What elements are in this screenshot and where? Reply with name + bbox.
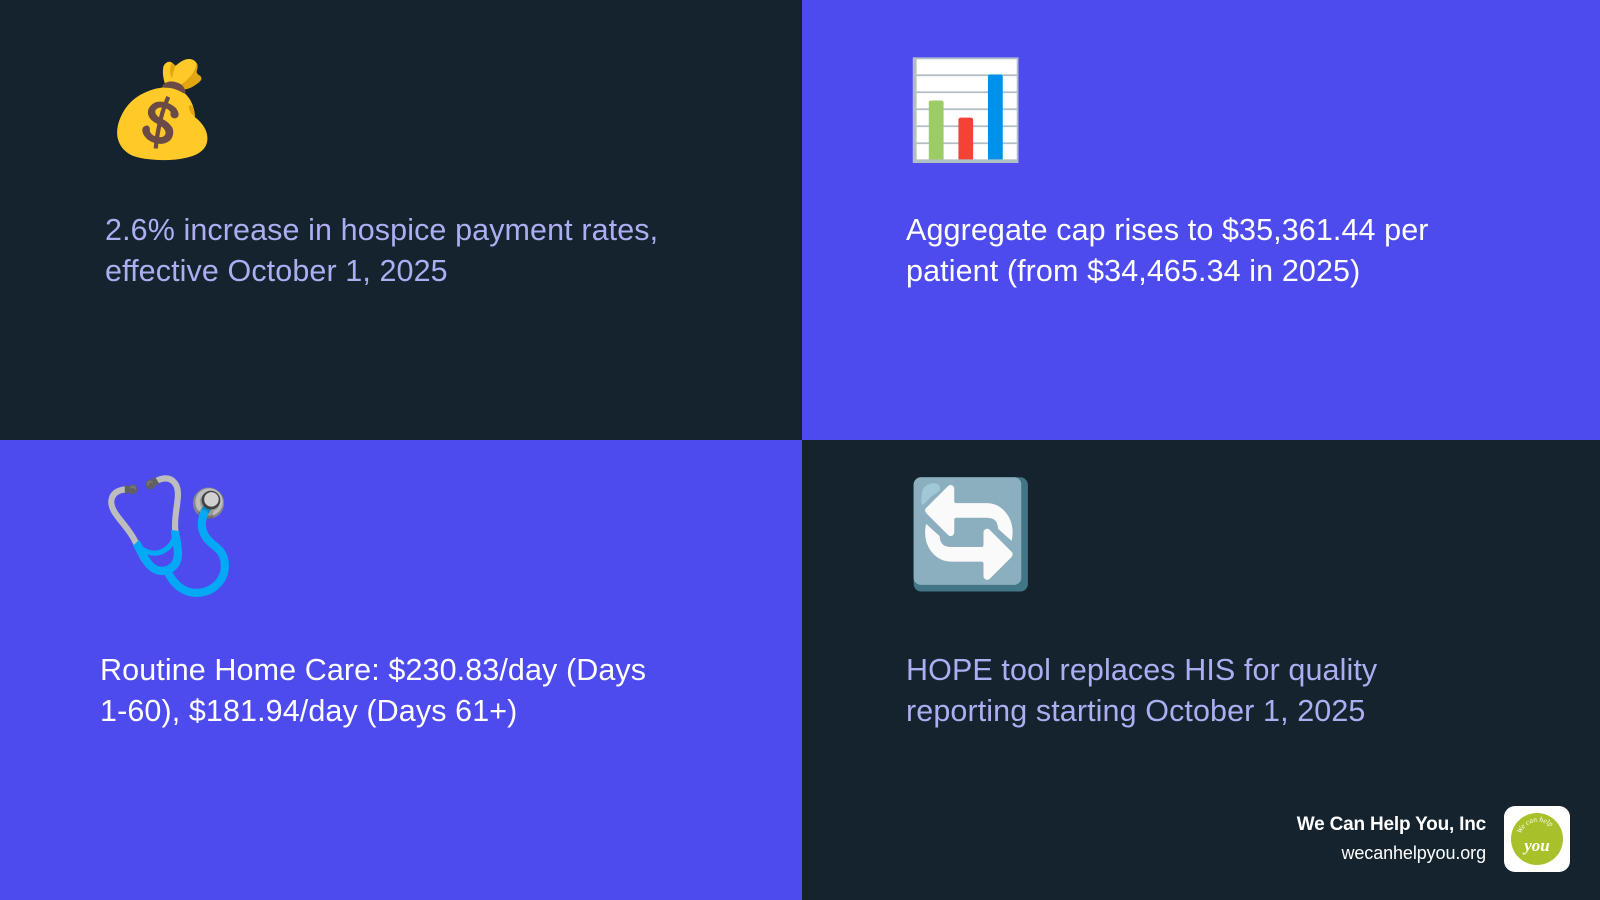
money-bag-icon: 💰	[105, 62, 802, 180]
bar-chart-icon: 📊	[906, 60, 1600, 178]
company-logo-badge: We can help you	[1504, 806, 1570, 872]
panel-routine-home-care: 🩺 Routine Home Care: $230.83/day (Days 1…	[0, 440, 802, 900]
logo-green-circle: We can help you	[1511, 813, 1563, 865]
infographic-canvas: 💰 2.6% increase in hospice payment rates…	[0, 0, 1600, 900]
counterclockwise-arrows-icon: 🔄	[906, 480, 1600, 628]
svg-text:We can help: We can help	[1514, 815, 1555, 835]
company-website[interactable]: wecanhelpyou.org	[1297, 840, 1486, 867]
stethoscope-icon: 🩺	[100, 478, 802, 628]
panel-text-aggregate-cap: Aggregate cap rises to $35,361.44 per pa…	[906, 210, 1466, 291]
logo-bottom-text: you	[1522, 836, 1550, 855]
panel-aggregate-cap: 📊 Aggregate cap rises to $35,361.44 per …	[802, 0, 1600, 440]
panel-hope-tool: 🔄 HOPE tool replaces HIS for quality rep…	[802, 440, 1600, 900]
company-name: We Can Help You, Inc	[1297, 811, 1486, 840]
branding: We Can Help You, Inc wecanhelpyou.org We…	[1297, 806, 1570, 872]
panel-text-hospice-payment-rate: 2.6% increase in hospice payment rates, …	[105, 210, 705, 291]
panel-text-hope-tool: HOPE tool replaces HIS for quality repor…	[906, 650, 1426, 731]
brand-text-block: We Can Help You, Inc wecanhelpyou.org	[1297, 811, 1486, 867]
panel-hospice-payment-rate: 💰 2.6% increase in hospice payment rates…	[0, 0, 802, 440]
panel-text-routine-home-care: Routine Home Care: $230.83/day (Days 1-6…	[100, 650, 660, 731]
logo-top-text: We can help	[1514, 815, 1555, 835]
